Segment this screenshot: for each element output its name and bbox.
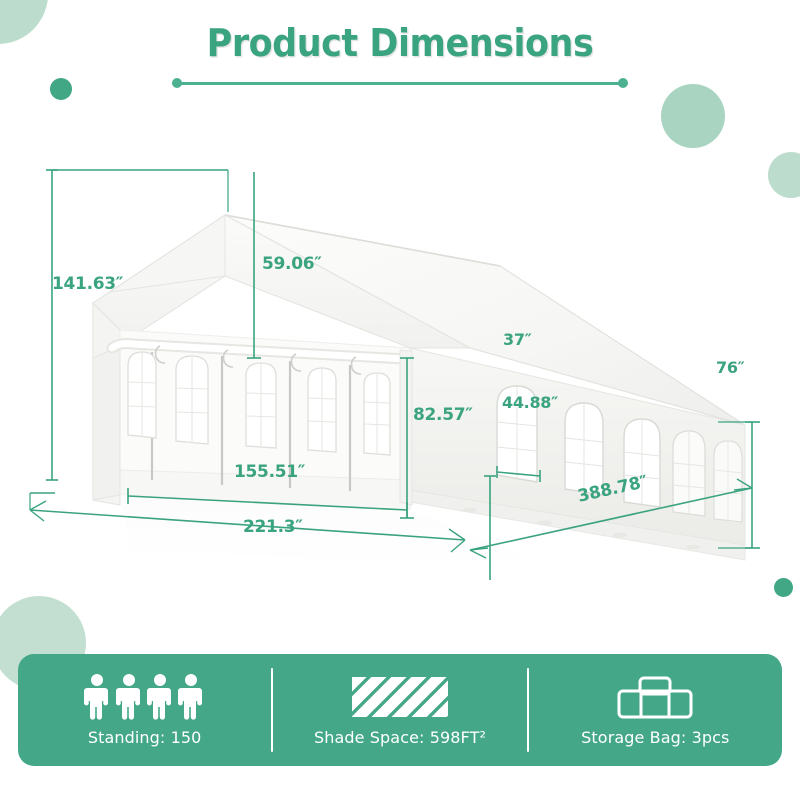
- tent-illustration: [93, 215, 745, 570]
- dim-window-height-label: 44.88″: [502, 393, 558, 412]
- title-underline-bar: [176, 82, 624, 85]
- dim-window-width-label: 37″: [503, 330, 532, 349]
- dim-overall-height-label: 141.63″: [52, 274, 123, 294]
- shade-area-icon: [351, 673, 449, 721]
- window: [176, 356, 208, 444]
- window: [246, 363, 276, 448]
- window: [714, 441, 742, 522]
- dim-overall-width-label: 221.3″: [243, 517, 303, 537]
- feature-standing-label: Standing: 150: [88, 728, 202, 747]
- feature-shade-space-label: Shade Space: 598FT²: [314, 728, 486, 747]
- title-underline-dot-left: [172, 78, 182, 88]
- window: [308, 368, 336, 452]
- dim-interior-height-label: 82.57″: [413, 405, 473, 425]
- title-underline: [176, 78, 624, 88]
- page-header: Product Dimensions: [0, 24, 800, 64]
- window: [673, 431, 705, 516]
- window: [565, 403, 603, 495]
- decor-dot-bottom-right: [774, 578, 793, 597]
- product-diagram: [0, 150, 800, 580]
- feature-storage-bag: Storage Bag: 3pcs: [529, 654, 782, 766]
- dim-sidewall-height-label: 76″: [716, 358, 745, 377]
- storage-bag-icon: [607, 673, 703, 721]
- decor-circle-top-right: [661, 84, 725, 148]
- window: [128, 352, 156, 438]
- dim-door-opening-label: 155.51″: [234, 462, 305, 482]
- page-title: Product Dimensions: [32, 24, 768, 64]
- decor-dot-left: [50, 78, 72, 100]
- dim-roof-peak-rise-label: 59.06″: [262, 254, 322, 274]
- people-icon: [83, 673, 207, 721]
- feature-panel: Standing: 150 Shade Space: 5: [18, 654, 782, 766]
- near-wall-left-curtain: [93, 346, 120, 500]
- feature-standing: Standing: 150: [18, 654, 271, 766]
- feature-storage-bag-label: Storage Bag: 3pcs: [581, 728, 729, 747]
- feature-shade-space: Shade Space: 598FT²: [273, 654, 526, 766]
- window: [364, 373, 390, 455]
- doorway-jamb: [400, 350, 412, 505]
- title-underline-dot-right: [618, 78, 628, 88]
